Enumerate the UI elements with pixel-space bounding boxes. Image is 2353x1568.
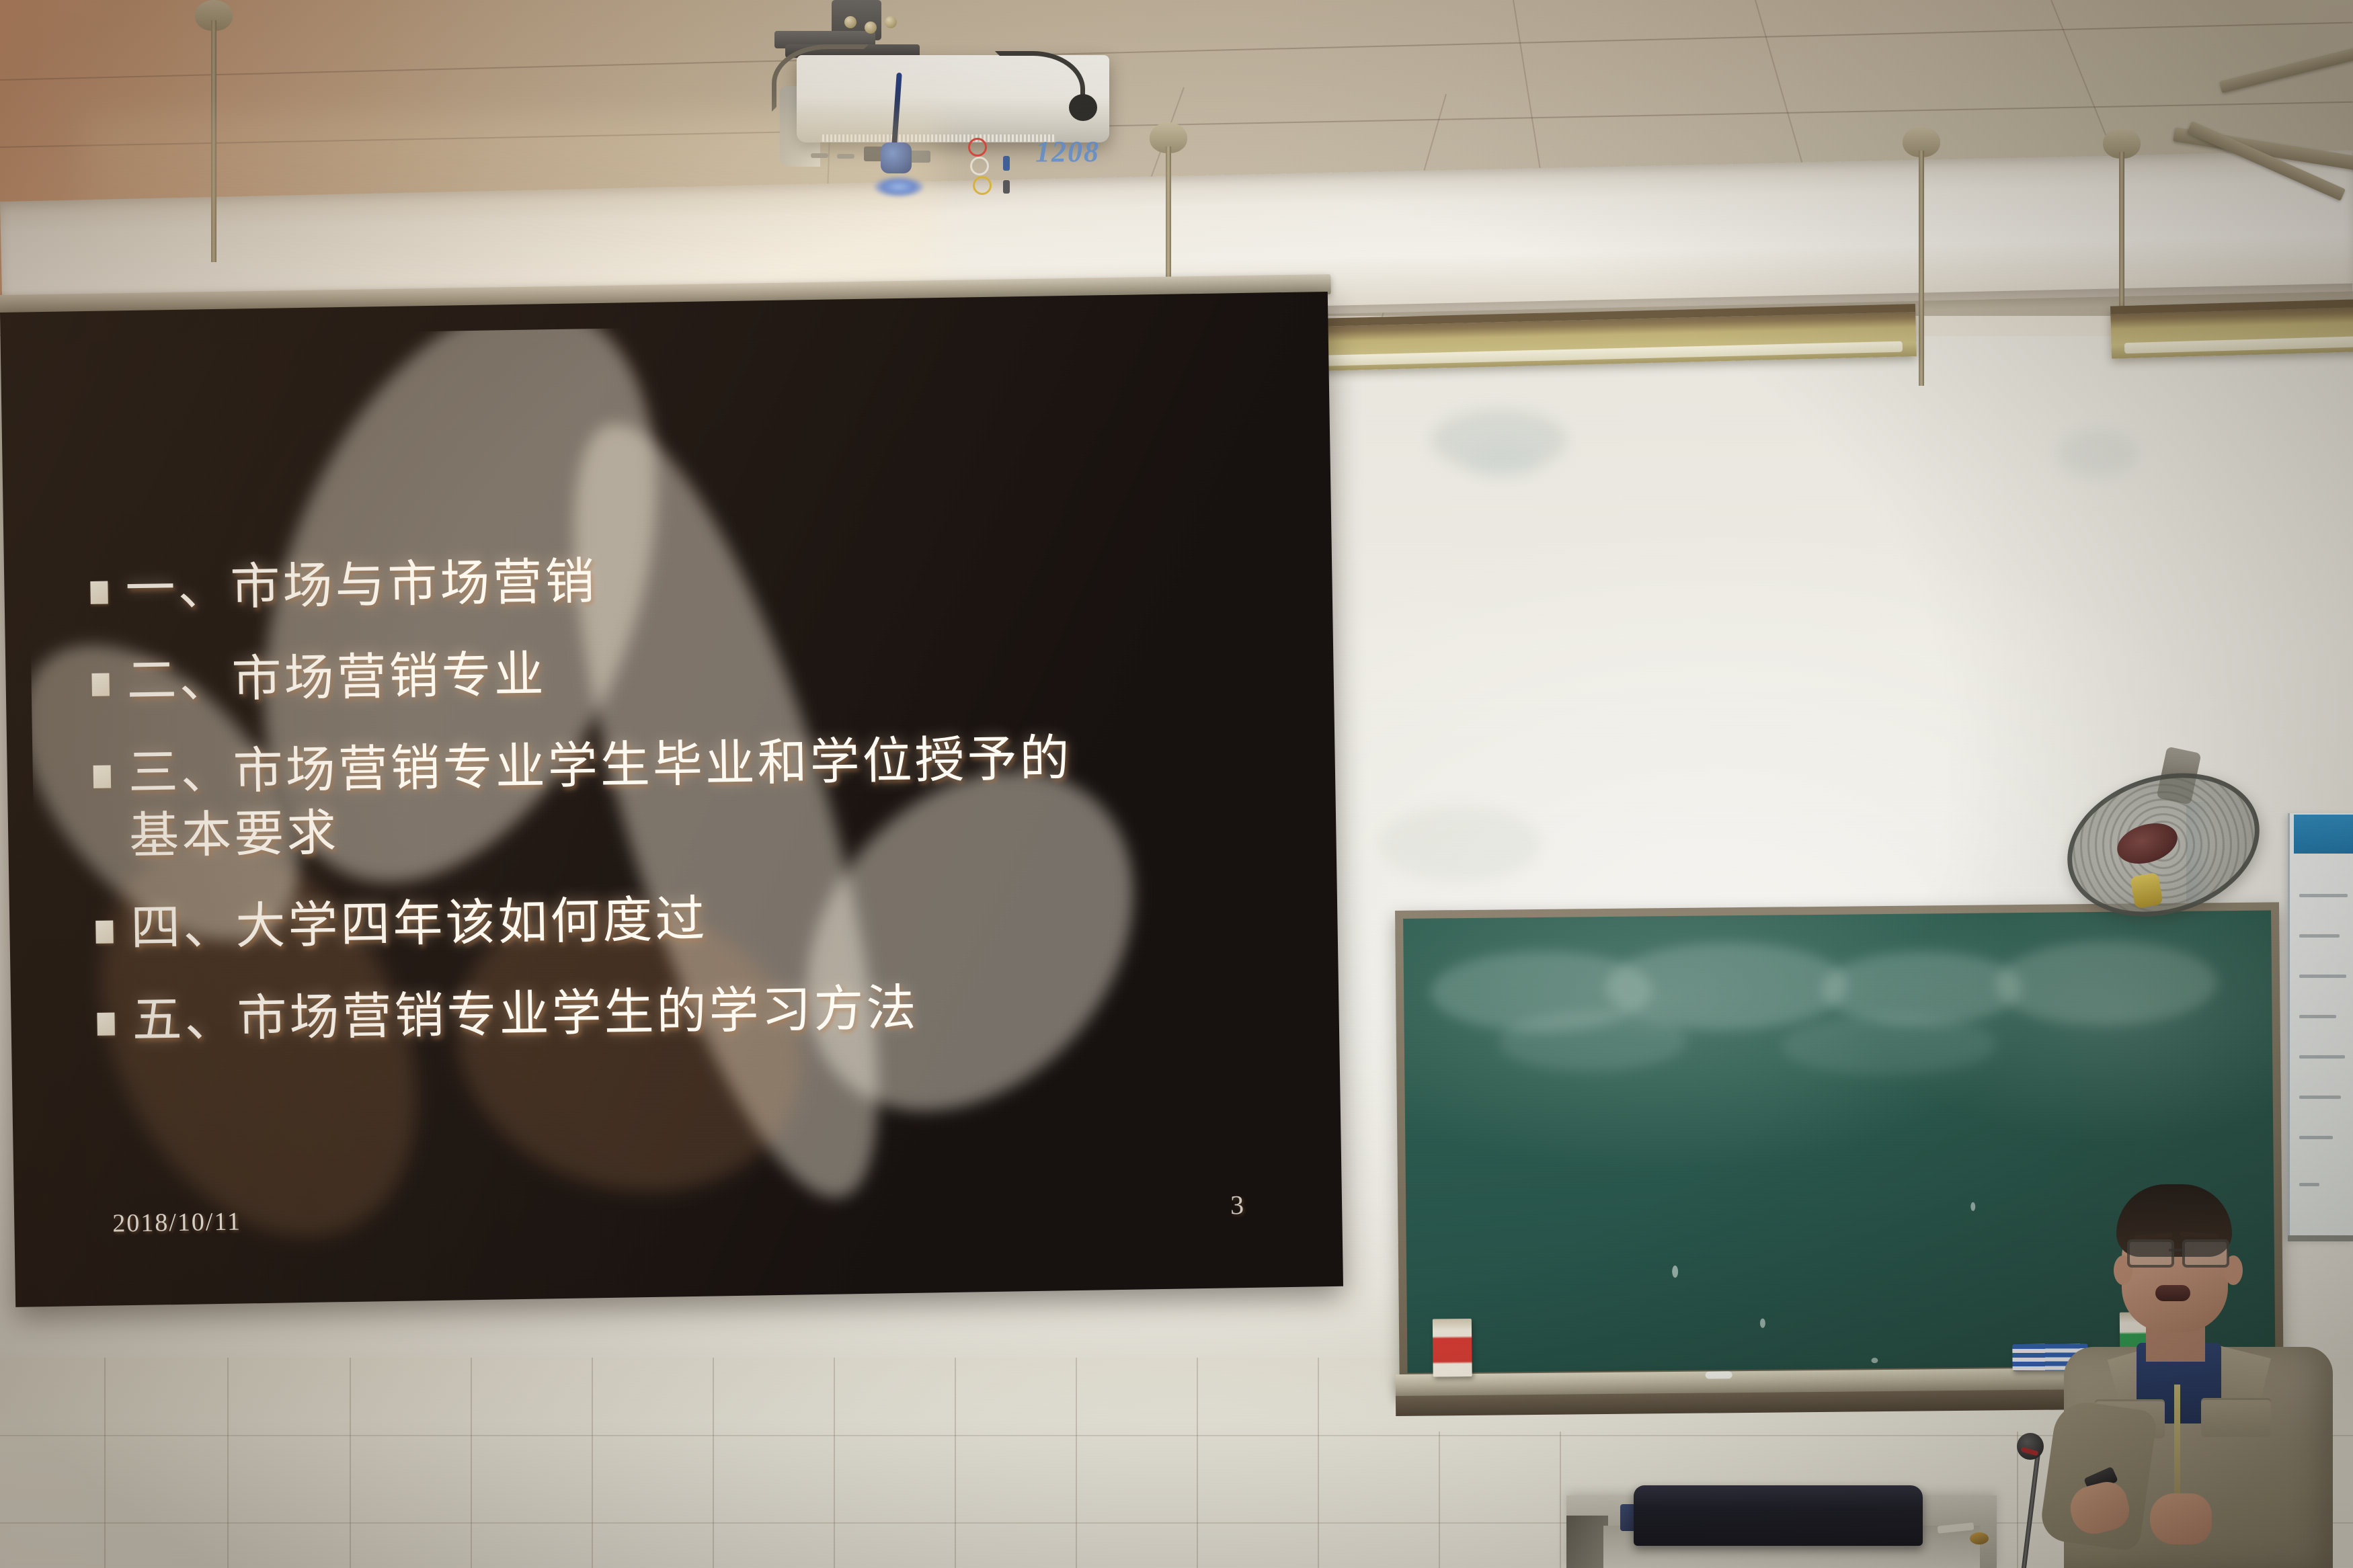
chalk-fleck xyxy=(1970,1202,1975,1211)
projector-indicator xyxy=(1003,180,1010,194)
chalk-residue xyxy=(1498,1010,1687,1073)
square-bullet-icon xyxy=(91,673,110,696)
wall-fan-knob[interactable] xyxy=(2130,872,2163,909)
notice-board[interactable] xyxy=(2288,813,2353,1240)
projector-label: 1208 xyxy=(1035,134,1100,169)
projector-indicator xyxy=(1003,156,1010,171)
slide-bullet-text: 一、市场与市场营销 xyxy=(125,550,598,620)
projector-mount-screw xyxy=(844,16,856,28)
notice-board-text-line xyxy=(2299,934,2340,938)
slide-bullet-text: 五、市场营销专业学生的学习方法 xyxy=(132,977,919,1053)
projector-mount-screw xyxy=(885,16,897,28)
tile-grout-line xyxy=(592,1358,593,1568)
tile-grout-line xyxy=(1076,1358,1077,1568)
projector-vent xyxy=(820,134,1055,142)
projector-mount-screw xyxy=(865,22,877,34)
projector-port xyxy=(811,153,828,158)
chalk-box-red[interactable] xyxy=(1433,1319,1472,1377)
wall-stain xyxy=(1466,444,1540,477)
tile-grout-line xyxy=(834,1358,835,1568)
square-bullet-icon xyxy=(95,920,114,943)
notice-board-text-line xyxy=(2299,1055,2345,1059)
notice-board-header xyxy=(2294,815,2353,854)
square-bullet-icon xyxy=(90,581,108,604)
eyeglasses-bridge xyxy=(2169,1249,2182,1251)
eyeglasses-icon xyxy=(2182,1239,2229,1268)
projection-screen-assembly: 一、市场与市场营销 二、市场营销专业 三、市场营销专业学生毕业和学位授予的基本要… xyxy=(0,292,1343,1314)
desk-small-object[interactable] xyxy=(1970,1532,1989,1544)
tile-grout-line xyxy=(1560,1432,1561,1568)
notice-board-text-line xyxy=(2299,1136,2333,1139)
slide-bullet-text: 二、市场营销专业 xyxy=(126,644,547,713)
slide-page-number: 3 xyxy=(1230,1189,1244,1221)
light-suspension-rod xyxy=(1919,151,1924,386)
tile-grout-line xyxy=(713,1358,714,1568)
chalk-residue xyxy=(1821,950,2023,1026)
projector-rca-jack xyxy=(968,138,987,157)
laptop-bag[interactable] xyxy=(1634,1485,1923,1546)
slide-date-footer: 2018/10/11 xyxy=(112,1207,241,1239)
slide-bullet-item: 五、市场营销专业学生的学习方法 xyxy=(97,971,1281,1053)
slide-bullet-text: 三、市场营销专业学生毕业和学位授予的基本要求 xyxy=(128,727,1105,868)
tile-grout-line xyxy=(1318,1358,1319,1568)
tile-grout-line xyxy=(350,1358,351,1568)
tile-grout-line xyxy=(471,1358,472,1568)
eyeglasses-icon xyxy=(2127,1239,2174,1268)
slide-bullet-item: 一、市场与市场营销 xyxy=(90,540,1274,621)
tile-grout-line xyxy=(0,1522,2353,1524)
square-bullet-icon xyxy=(93,766,112,788)
slide-bullet-list: 一、市场与市场营销 二、市场营销专业 三、市场营销专业学生毕业和学位授予的基本要… xyxy=(90,540,1281,1082)
wall-stain xyxy=(2057,430,2138,477)
notice-board-text-line xyxy=(2299,975,2346,978)
tile-grout-line xyxy=(227,1358,229,1568)
tile-grout-line xyxy=(1197,1358,1198,1568)
projector-cord-plug xyxy=(1069,94,1097,121)
chalk-residue xyxy=(1995,940,2217,1026)
notice-board-text-line xyxy=(2299,1096,2341,1099)
projector-power-led xyxy=(874,177,924,197)
projected-slide[interactable]: 一、市场与市场营销 二、市场营销专业 三、市场营销专业学生毕业和学位授予的基本要… xyxy=(26,318,1318,1282)
chalk-stick[interactable] xyxy=(1706,1371,1732,1378)
notice-board-text-line xyxy=(2299,894,2348,897)
projector-cable-connector xyxy=(881,142,912,173)
tile-grout-line xyxy=(104,1358,106,1568)
chalk-residue xyxy=(1781,1014,1997,1076)
tile-grout-line xyxy=(955,1358,956,1568)
slide-bullet-item: 二、市场营销专业 xyxy=(91,632,1275,714)
chalk-fleck xyxy=(1871,1358,1878,1363)
instructor-right-hand xyxy=(2150,1493,2212,1544)
jacket-chest-pocket xyxy=(2201,1398,2271,1437)
instructor[interactable] xyxy=(2037,1183,2353,1568)
wall-stain xyxy=(1378,807,1540,880)
tile-grout-line xyxy=(1439,1432,1440,1568)
projection-screen-frame: 一、市场与市场营销 二、市场营销专业 三、市场营销专业学生毕业和学位授予的基本要… xyxy=(0,292,1343,1307)
podium-side-panel xyxy=(1566,1516,1608,1568)
instructor-mouth xyxy=(2155,1285,2190,1301)
projector-rca-jack xyxy=(973,176,992,195)
slide-bullet-item: 四、大学四年该如何度过 xyxy=(95,879,1279,960)
chalk-fleck xyxy=(1672,1266,1678,1278)
notice-board-text-line xyxy=(2299,1015,2336,1018)
chalk-fleck xyxy=(1760,1319,1765,1328)
square-bullet-icon xyxy=(97,1013,115,1036)
tile-grout-line xyxy=(0,1435,2353,1436)
classroom-scene: 1208 一、市场与市场营销 xyxy=(0,0,2353,1568)
slide-bullet-item: 三、市场营销专业学生毕业和学位授予的基本要求 xyxy=(93,725,1278,868)
projector-port xyxy=(837,154,854,159)
projector-rca-jack xyxy=(970,157,989,175)
light-suspension-rod xyxy=(211,20,216,262)
slide-bullet-text: 四、大学四年该如何度过 xyxy=(130,889,708,960)
